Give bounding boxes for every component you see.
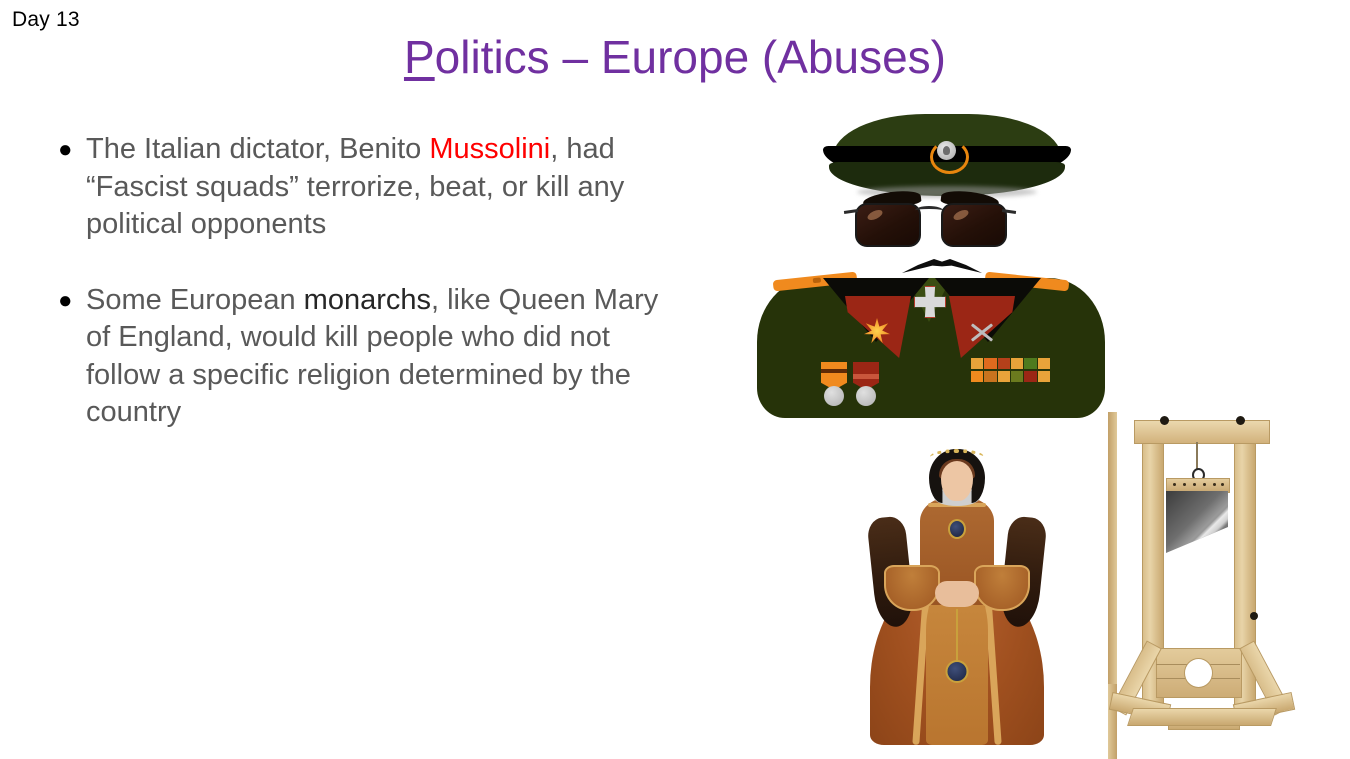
bullet-marker-icon: ● (58, 131, 86, 169)
hood-pearl-trim (930, 449, 984, 465)
guillotine-blade-mount (1166, 478, 1230, 493)
ribbon-bar (1038, 358, 1050, 369)
medal-stripe (821, 369, 847, 373)
ribbon-bar (1011, 358, 1023, 369)
ribbon-bar (984, 358, 996, 369)
sleeve-cuff-left (884, 565, 940, 611)
guillotine-lunette-hole (1184, 658, 1213, 688)
ribbon-bar (998, 358, 1010, 369)
bullet-text: The Italian dictator, Benito Mussolini, … (86, 131, 678, 244)
guillotine-illustration (1108, 412, 1294, 742)
guillotine-base-front (1127, 708, 1277, 726)
ribbon-bar (1024, 371, 1036, 382)
crossed-swords-icon (969, 320, 995, 344)
list-item: ● Some European monarchs, like Queen Mar… (58, 282, 678, 432)
shoulder-pip (813, 277, 821, 283)
ribbon-bars (971, 358, 1051, 384)
bullet-segment: The Italian dictator, Benito (86, 133, 429, 165)
body-text-block: ● The Italian dictator, Benito Mussolini… (58, 131, 678, 470)
ribbon-bar (1038, 371, 1050, 382)
sleeve-cuff-right (974, 565, 1030, 611)
guillotine-post-left-inner (1108, 412, 1117, 684)
sunglasses-lens-right (941, 203, 1007, 247)
guillotine-knob-right (1236, 416, 1245, 425)
bullet-segment-highlight: Mussolini (429, 133, 550, 165)
bullet-text: Some European monarchs, like Queen Mary … (86, 282, 678, 432)
day-label: Day 13 (12, 8, 80, 32)
guillotine-top-beam (1134, 420, 1270, 444)
mustache-icon (902, 258, 982, 278)
ribbon-bar (998, 371, 1010, 382)
ribbon-bar (971, 371, 983, 382)
medal-disc (856, 386, 876, 406)
bullet-segment: Some European (86, 284, 304, 316)
queen-mary-illustration (862, 445, 1052, 745)
ribbon-row-bottom (971, 371, 1051, 382)
guillotine-side-knob (1250, 612, 1258, 620)
list-item: ● The Italian dictator, Benito Mussolini… (58, 131, 678, 244)
bullet-marker-icon: ● (58, 282, 86, 320)
ribbon-bar (971, 358, 983, 369)
ribbon-bar (1011, 371, 1023, 382)
bullet-segment-emphasis: monarchs (304, 284, 431, 316)
guillotine-blade-edge (1166, 491, 1228, 553)
guillotine-knob-left (1160, 416, 1169, 425)
medal-two (853, 362, 879, 396)
pendant-chain (956, 609, 958, 665)
medal-one (821, 362, 847, 396)
ribbon-bar (984, 371, 996, 382)
ribbon-row-top (971, 358, 1051, 369)
medal-stripe (853, 374, 879, 379)
guillotine-rope (1196, 442, 1198, 470)
clasped-hands (935, 581, 979, 607)
medal-disc (824, 386, 844, 406)
cap-emblem-mark-icon (943, 146, 950, 155)
dictator-illustration (745, 100, 1115, 430)
title-first-letter: P (404, 31, 435, 83)
sunglasses-bridge (915, 206, 943, 215)
title-rest: olitics – Europe (Abuses) (435, 31, 946, 83)
ribbon-bar (1024, 358, 1036, 369)
lens-glint (866, 208, 884, 222)
lens-glint (952, 208, 970, 222)
presentation-slide: Day 13 Politics – Europe (Abuses) ● The … (0, 0, 1350, 759)
page-title: Politics – Europe (Abuses) (0, 30, 1350, 84)
neck-jewel (948, 519, 966, 539)
sunglasses-lens-left (855, 203, 921, 247)
gown-pendant-jewel (946, 660, 969, 683)
face (941, 461, 973, 501)
